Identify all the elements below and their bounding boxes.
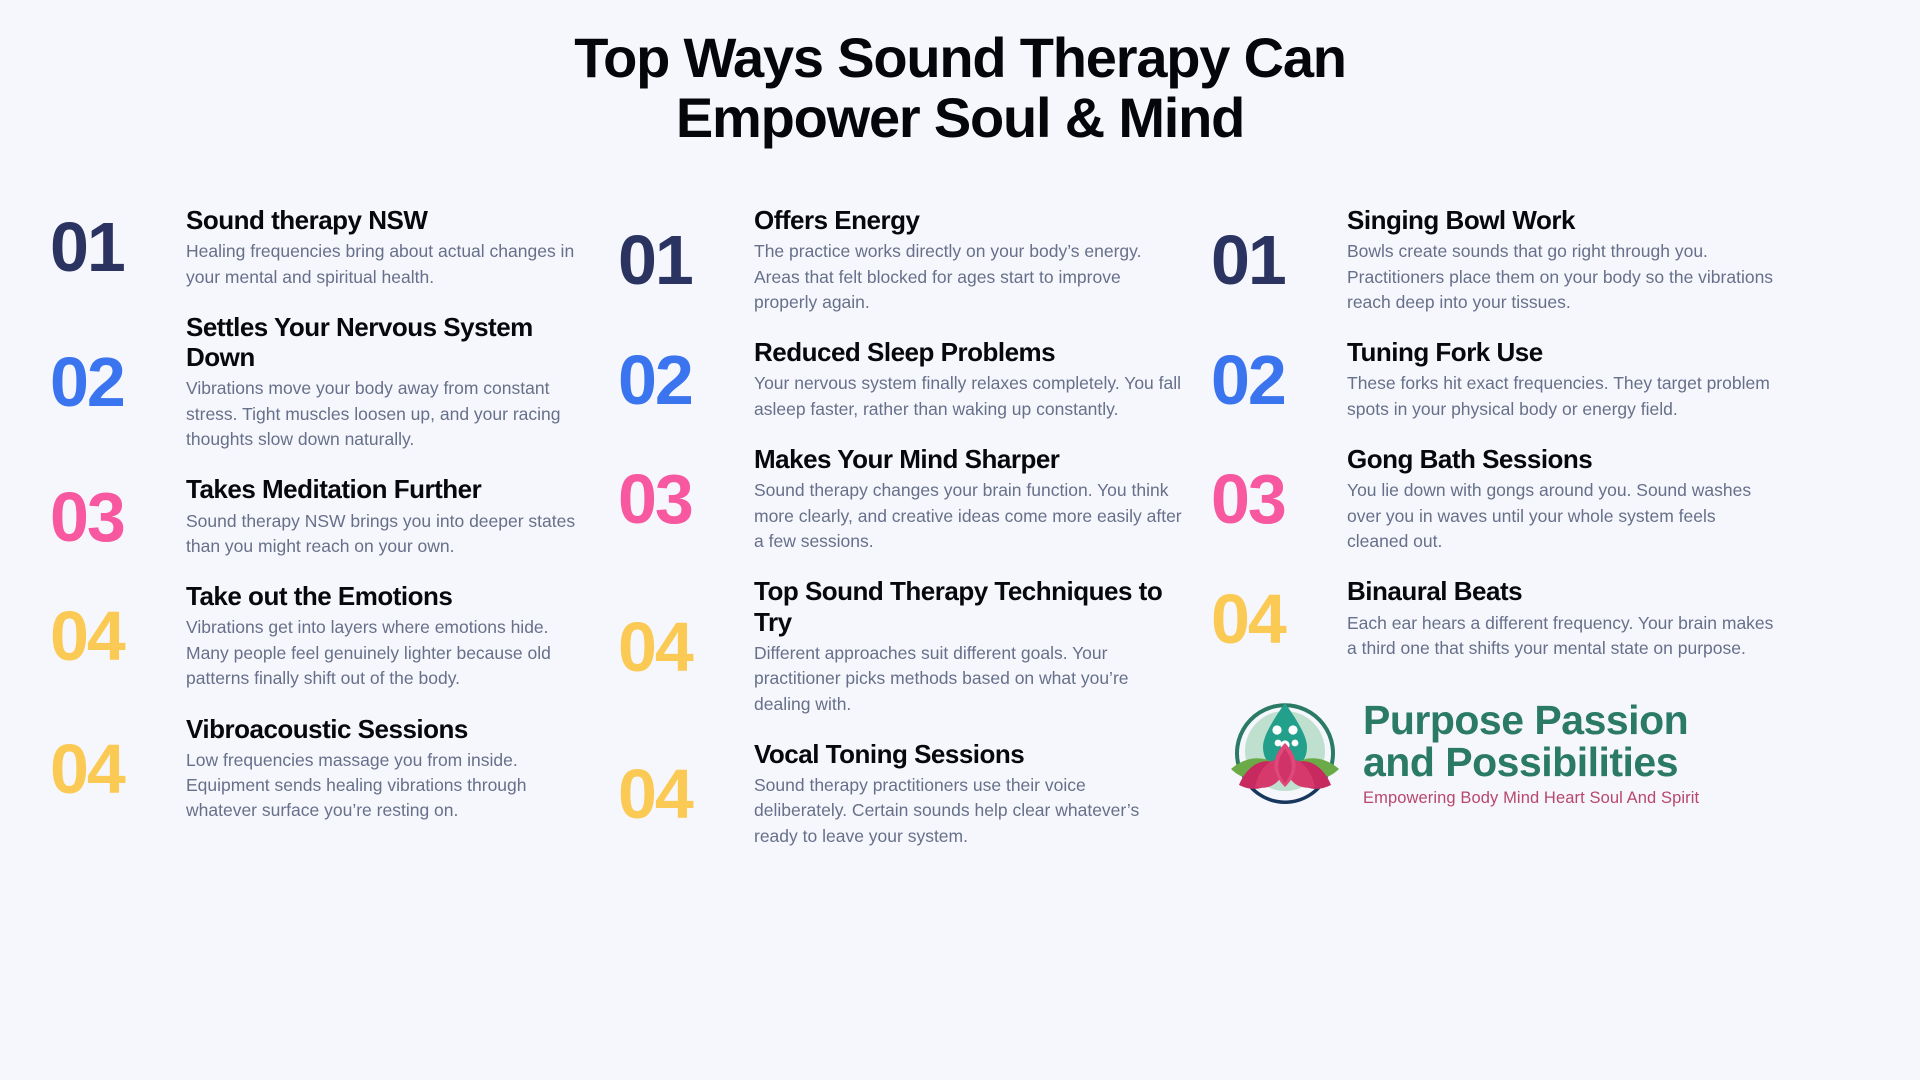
item-heading: Take out the Emotions [186,581,590,611]
item-number: 02 [618,345,736,415]
list-item: 02 Tuning Fork Use These forks hit exact… [1211,337,1781,422]
item-body: Offers Energy The practice works directl… [754,205,1183,315]
item-number: 01 [618,225,736,295]
list-item: 01 Offers Energy The practice works dire… [618,205,1183,315]
column-3: 01 Singing Bowl Work Bowls create sounds… [1211,205,1781,817]
item-number: 04 [618,612,736,682]
list-item: 02 Settles Your Nervous System Down Vibr… [50,312,590,452]
list-item: 01 Singing Bowl Work Bowls create sounds… [1211,205,1781,315]
list-item: 04 Vocal Toning Sessions Sound therapy p… [618,739,1183,849]
list-item: 04 Take out the Emotions Vibrations get … [50,581,590,691]
list-item: 03 Makes Your Mind Sharper Sound therapy… [618,444,1183,554]
item-heading: Gong Bath Sessions [1347,444,1781,474]
item-description: Healing frequencies bring about actual c… [186,239,590,290]
brand-name-line-2: and Possibilities [1363,741,1699,784]
item-body: Top Sound Therapy Techniques to Try Diff… [754,576,1183,716]
item-body: Reduced Sleep Problems Your nervous syst… [754,337,1183,422]
item-description: These forks hit exact frequencies. They … [1347,371,1781,422]
brand-tagline: Empowering Body Mind Heart Soul And Spir… [1363,789,1699,808]
item-number: 04 [50,734,168,804]
brand-text: Purpose Passion and Possibilities Empowe… [1363,699,1699,808]
item-description: Sound therapy practitioners use their vo… [754,773,1183,849]
list-item: 03 Gong Bath Sessions You lie down with … [1211,444,1781,554]
item-heading: Singing Bowl Work [1347,205,1781,235]
item-number: 04 [1211,584,1329,654]
item-heading: Vocal Toning Sessions [754,739,1183,769]
page-title-line-2: Empower Soul & Mind [0,88,1920,148]
item-description: You lie down with gongs around you. Soun… [1347,478,1781,554]
page-title-line-1: Top Ways Sound Therapy Can [0,28,1920,88]
item-description: Bowls create sounds that go right throug… [1347,239,1781,315]
list-item: 04 Vibroacoustic Sessions Low frequencie… [50,714,590,824]
item-heading: Binaural Beats [1347,576,1781,606]
item-description: Your nervous system finally relaxes comp… [754,371,1183,422]
item-body: Singing Bowl Work Bowls create sounds th… [1347,205,1781,315]
item-body: Vocal Toning Sessions Sound therapy prac… [754,739,1183,849]
item-heading: Makes Your Mind Sharper [754,444,1183,474]
item-body: Take out the Emotions Vibrations get int… [186,581,590,691]
lotus-logo-icon [1221,689,1349,817]
column-2: 01 Offers Energy The practice works dire… [618,205,1183,871]
item-description: Vibrations get into layers where emotion… [186,615,590,691]
item-description: Different approaches suit different goal… [754,641,1183,717]
item-heading: Top Sound Therapy Techniques to Try [754,576,1183,636]
list-item: 04 Binaural Beats Each ear hears a diffe… [1211,576,1781,661]
item-heading: Settles Your Nervous System Down [186,312,590,372]
item-number: 04 [618,759,736,829]
item-body: Settles Your Nervous System Down Vibrati… [186,312,590,452]
brand-name-line-1: Purpose Passion [1363,699,1699,742]
item-description: Vibrations move your body away from cons… [186,376,590,452]
item-number: 03 [50,482,168,552]
brand-logo: Purpose Passion and Possibilities Empowe… [1221,689,1781,817]
item-description: Sound therapy NSW brings you into deeper… [186,509,590,560]
item-number: 02 [50,347,168,417]
infographic-page: Top Ways Sound Therapy Can Empower Soul … [0,0,1920,1080]
item-description: The practice works directly on your body… [754,239,1183,315]
item-description: Low frequencies massage you from inside.… [186,748,590,824]
item-body: Gong Bath Sessions You lie down with gon… [1347,444,1781,554]
item-heading: Vibroacoustic Sessions [186,714,590,744]
item-number: 01 [1211,225,1329,295]
item-body: Takes Meditation Further Sound therapy N… [186,474,590,559]
item-number: 03 [1211,464,1329,534]
item-number: 01 [50,212,168,282]
list-item: 02 Reduced Sleep Problems Your nervous s… [618,337,1183,422]
item-body: Vibroacoustic Sessions Low frequencies m… [186,714,590,824]
item-heading: Reduced Sleep Problems [754,337,1183,367]
column-1: 01 Sound therapy NSW Healing frequencies… [50,205,590,846]
item-number: 04 [50,601,168,671]
item-description: Sound therapy changes your brain functio… [754,478,1183,554]
list-item: 04 Top Sound Therapy Techniques to Try D… [618,576,1183,716]
page-title: Top Ways Sound Therapy Can Empower Soul … [0,28,1920,149]
columns-container: 01 Sound therapy NSW Healing frequencies… [50,205,1880,871]
item-heading: Takes Meditation Further [186,474,590,504]
item-heading: Tuning Fork Use [1347,337,1781,367]
item-body: Makes Your Mind Sharper Sound therapy ch… [754,444,1183,554]
item-number: 03 [618,464,736,534]
item-heading: Sound therapy NSW [186,205,590,235]
list-item: 01 Sound therapy NSW Healing frequencies… [50,205,590,290]
item-heading: Offers Energy [754,205,1183,235]
item-description: Each ear hears a different frequency. Yo… [1347,611,1781,662]
item-body: Binaural Beats Each ear hears a differen… [1347,576,1781,661]
item-body: Tuning Fork Use These forks hit exact fr… [1347,337,1781,422]
item-body: Sound therapy NSW Healing frequencies br… [186,205,590,290]
list-item: 03 Takes Meditation Further Sound therap… [50,474,590,559]
item-number: 02 [1211,345,1329,415]
